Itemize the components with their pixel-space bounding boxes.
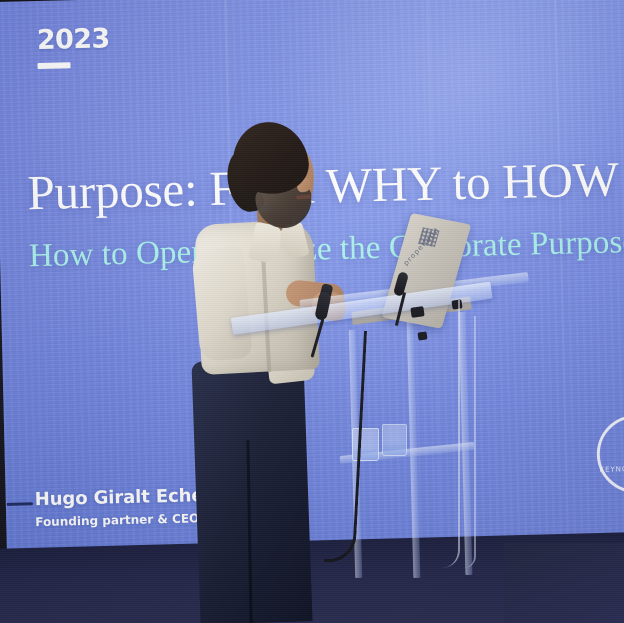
slide-subtitle: How to Operationalize the Corporate Purp…	[29, 226, 624, 274]
speaker-dash-rule	[7, 502, 33, 506]
trousers	[191, 358, 312, 623]
slide-year-block: 2023	[37, 25, 111, 69]
presentation-photo: 2023 Purpose: From WHY to HOW How to Ope…	[0, 0, 624, 623]
circle-logo-label: KEYNOTE	[599, 465, 624, 474]
podium-cable	[438, 300, 460, 568]
cable-clamp	[410, 306, 424, 318]
stage-right-shadow	[504, 543, 624, 623]
year-underline-rule	[37, 62, 70, 69]
panel-seam	[554, 0, 570, 589]
podium-cable	[462, 316, 476, 568]
slide-year: 2023	[37, 25, 110, 54]
shirt-sleeve	[191, 246, 253, 362]
slide-title: Purpose: From WHY to HOW	[27, 154, 624, 217]
water-glass	[382, 424, 407, 456]
cable-clamp	[417, 331, 427, 340]
circle-logo-icon	[596, 414, 624, 494]
